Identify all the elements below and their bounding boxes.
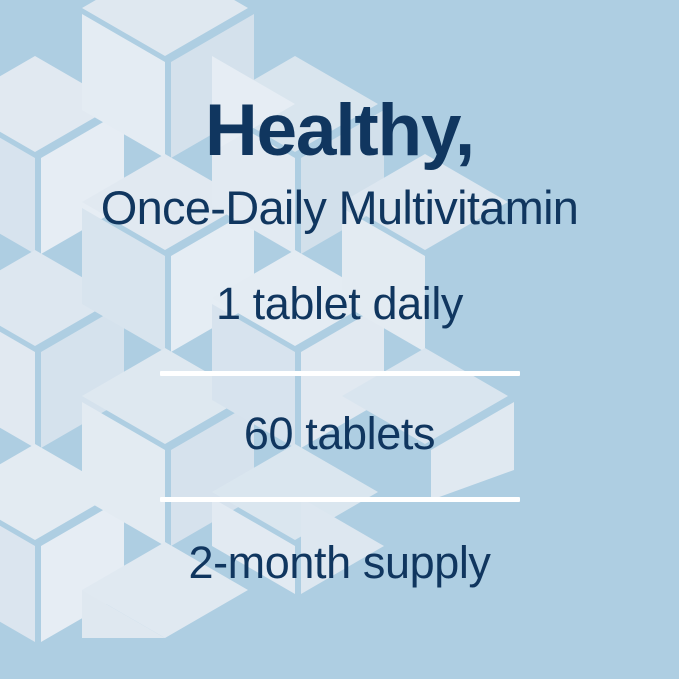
fact-supply-duration: 2-month supply: [0, 540, 679, 585]
product-claim-card: Healthy, Once-Daily Multivitamin 1 table…: [0, 0, 679, 679]
fact-tablet-count: 60 tablets: [0, 411, 679, 456]
page-title: Healthy,: [0, 94, 679, 167]
page-subtitle: Once-Daily Multivitamin: [0, 184, 679, 231]
fact-dosage: 1 tablet daily: [0, 281, 679, 326]
claim-text-stack: Healthy, Once-Daily Multivitamin 1 table…: [0, 0, 679, 679]
divider-above-supply: [160, 497, 520, 502]
divider-above-count: [160, 371, 520, 376]
